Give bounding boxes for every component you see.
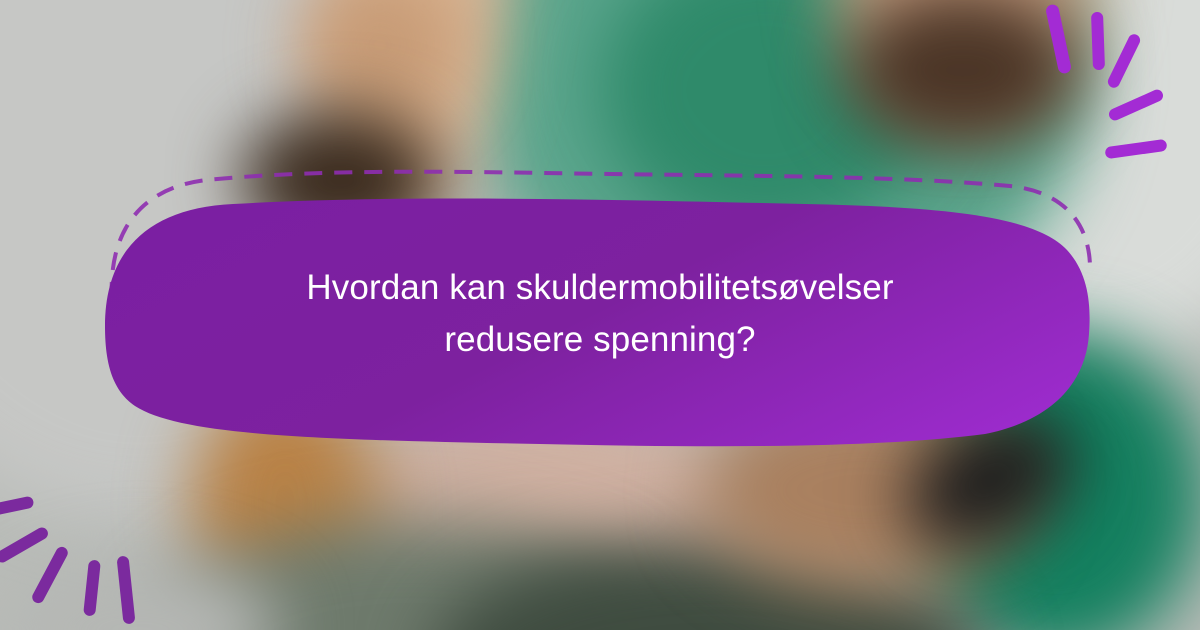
sparkle-stroke-icon	[30, 545, 70, 605]
sparkle-stroke-icon	[116, 556, 135, 625]
sparkle-stroke-icon	[0, 525, 50, 564]
sparkle-stroke-icon	[1091, 12, 1105, 70]
sparkle-stroke-icon	[83, 560, 101, 617]
sparkle-stroke-icon	[1106, 32, 1142, 89]
sparkle-stroke-icon	[0, 495, 35, 520]
page-title: Hvordan kan skuldermobilitetsøvelser red…	[150, 262, 1050, 366]
sparkle-burst-bottom-left	[0, 470, 180, 630]
headline-line-2: redusere spenning?	[150, 314, 1050, 366]
sparkle-burst-top-right	[1030, 0, 1200, 160]
sparkle-stroke-icon	[1107, 88, 1165, 123]
sparkle-stroke-icon	[1045, 3, 1072, 74]
headline-line-1: Hvordan kan skuldermobilitetsøvelser	[150, 262, 1050, 314]
sparkle-stroke-icon	[1104, 139, 1167, 160]
social-card: Hvordan kan skuldermobilitetsøvelser red…	[0, 0, 1200, 630]
